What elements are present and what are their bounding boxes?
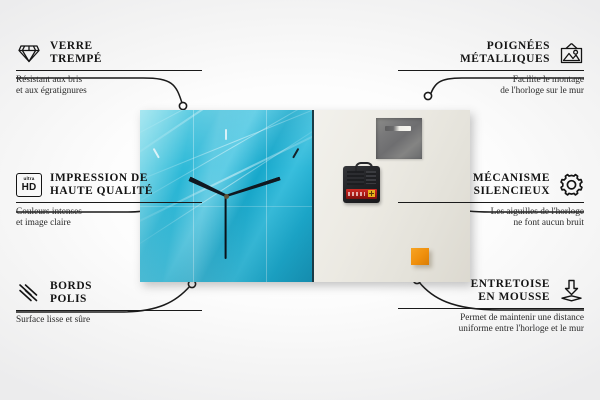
feature-impression-haute-qualite: ultra HD IMPRESSION DE HAUTE QUALITÉ Cou… [16,172,202,229]
clock-center-cap [224,194,229,199]
feature-title: IMPRESSION DE HAUTE QUALITÉ [50,172,153,197]
battery-plus-terminal [368,190,375,197]
mechanism-detail [366,171,376,184]
feature-verre-trempe: VERRE TREMPÉ Résistant aux bris et aux é… [16,40,202,97]
hanger-slot [385,126,411,131]
feature-title: ENTRETOISE EN MOUSSE [471,278,550,303]
clock-minute-hand [225,176,280,197]
feature-mecanisme-silencieux: MÉCANISME SILENCIEUX Les aiguilles de l'… [398,172,584,229]
ultra-hd-icon-main-text: HD [22,183,37,193]
product-infographic: VERRE TREMPÉ Résistant aux bris et aux é… [0,0,600,400]
feature-divider [16,310,202,311]
battery [346,189,377,199]
feature-title: POIGNÉES MÉTALLIQUES [460,40,550,65]
feature-entretoise-en-mousse: ENTRETOISE EN MOUSSE Permet de maintenir… [398,278,584,335]
foam-spacer-arrow-icon [558,278,584,304]
clock-second-hand [225,196,227,259]
feature-title: VERRE TREMPÉ [50,40,102,65]
feature-divider [16,202,202,203]
feature-description: Résistant aux bris et aux égratignures [16,75,202,97]
feature-divider [398,202,584,203]
metal-hanger-plate [376,118,422,159]
mechanism-grill [347,171,364,185]
feature-divider [16,70,202,71]
feature-poignees-metalliques: POIGNÉES MÉTALLIQUES Facilite le montage… [398,40,584,97]
foam-spacer [411,248,429,265]
clock-mechanism-box [343,166,380,203]
diamond-icon [16,40,42,66]
feature-divider [398,70,584,71]
gear-icon [558,172,584,198]
feature-divider [398,308,584,309]
connector-dot-verre-trempe [179,102,186,109]
feature-bords-polis: BORDS POLIS Surface lisse et sûre [16,280,202,326]
feature-title: BORDS POLIS [50,280,92,305]
feature-title: MÉCANISME SILENCIEUX [473,172,550,197]
feature-description: Les aiguilles de l'horloge ne font aucun… [398,207,584,229]
feature-description: Permet de maintenir une distance uniform… [398,313,584,335]
ultra-hd-icon: ultra HD [16,172,42,198]
feature-description: Surface lisse et sûre [16,315,202,326]
battery-label [348,192,365,196]
feature-description: Facilite le montage de l'horloge sur le … [398,75,584,97]
picture-hanger-icon [558,40,584,66]
polished-edges-icon [16,280,42,306]
feature-description: Couleurs intenses et image claire [16,207,202,229]
